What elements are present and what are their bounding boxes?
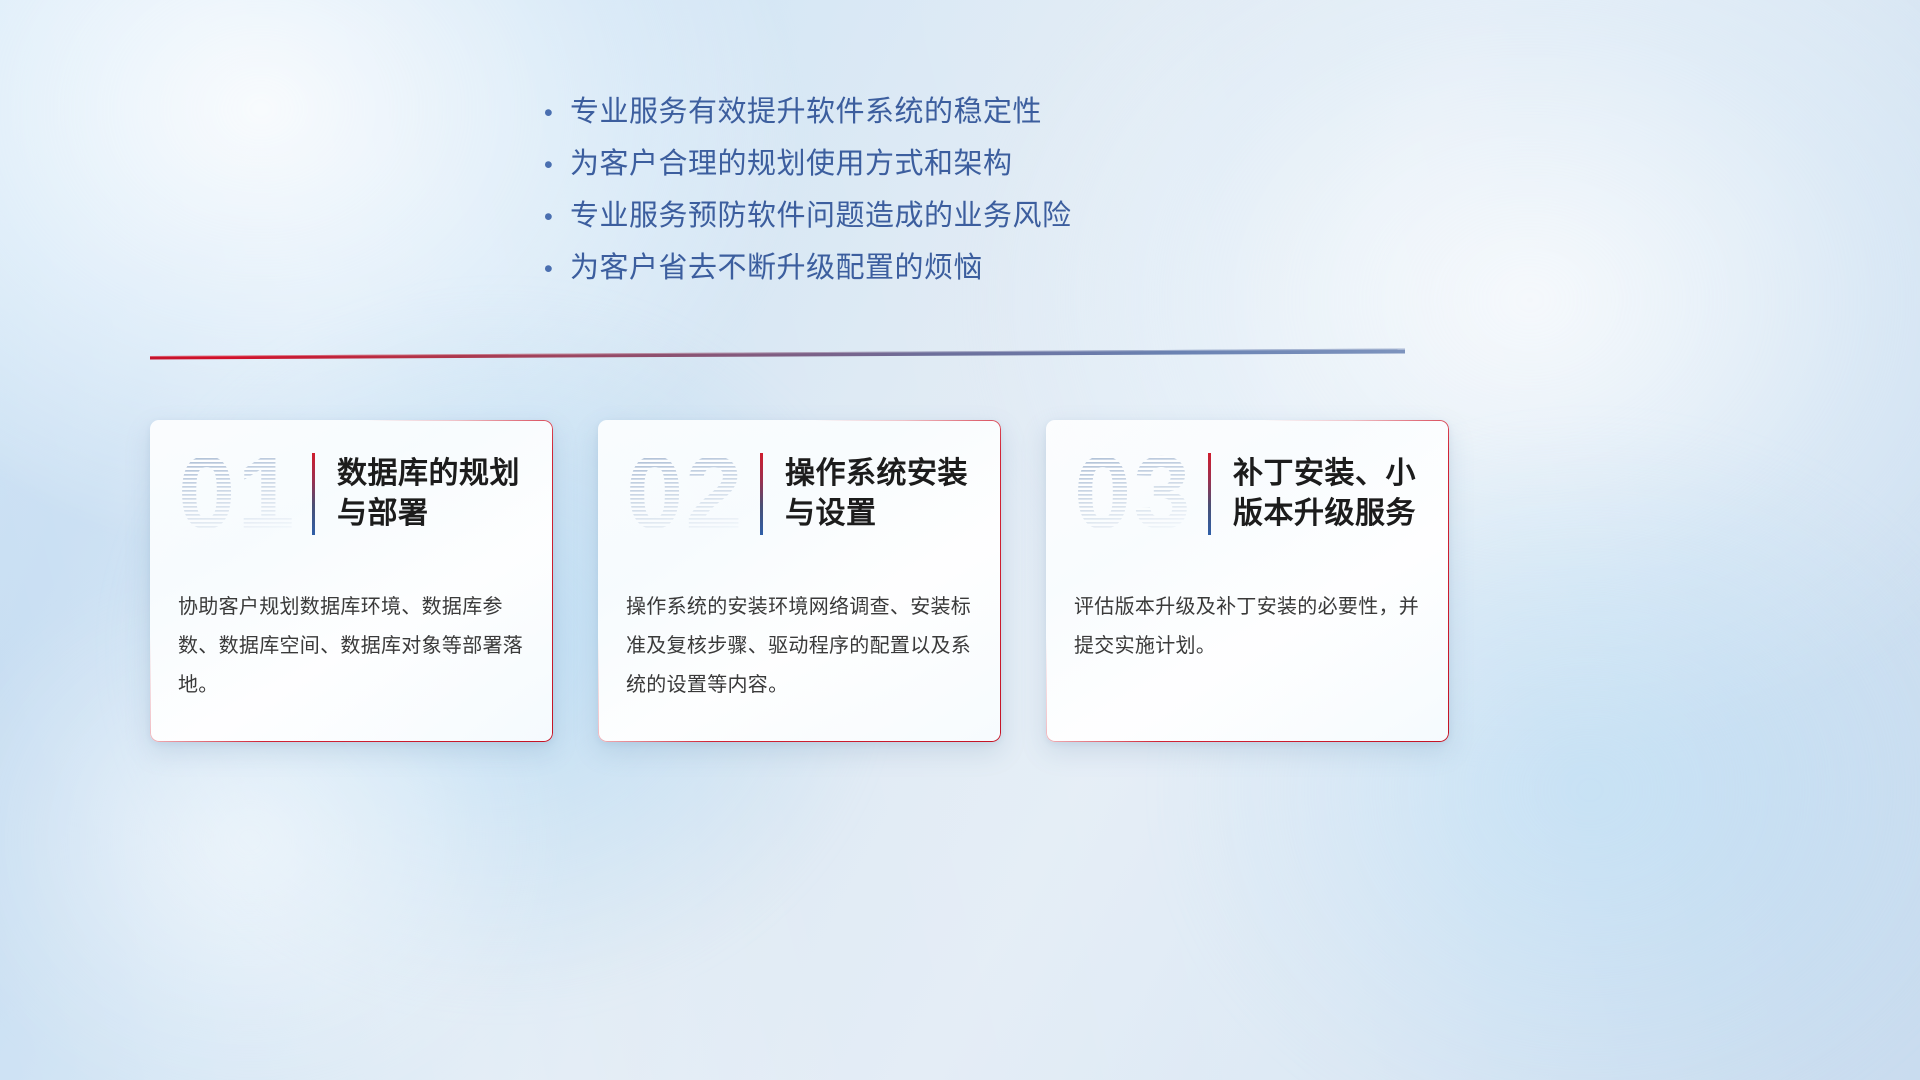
bullet-dot-icon: •: [540, 257, 570, 282]
feature-card[interactable]: 03 补丁安装、小 版本升级服务 评估版本升级及补丁安装的必要性，并提交实施计划…: [1046, 420, 1449, 742]
list-item: • 为客户省去不断升级配置的烦恼: [540, 244, 1440, 296]
card-body-text: 操作系统的安装环境网络调查、安装标准及复核步骤、驱动程序的配置以及系统的设置等内…: [626, 588, 975, 705]
list-item: • 为客户合理的规划使用方式和架构: [540, 140, 1440, 192]
card-body-text: 评估版本升级及补丁安装的必要性，并提交实施计划。: [1074, 588, 1423, 666]
bullet-dot-icon: •: [540, 205, 570, 230]
card-header: 01 数据库的规划 与部署: [150, 420, 553, 568]
bullet-text: 专业服务预防软件问题造成的业务风险: [570, 192, 1072, 234]
feature-card-group: 01 数据库的规划 与部署 协助客户规划数据库环境、数据库参数、数据库空间、数据…: [150, 420, 1450, 742]
bullet-list: • 专业服务有效提升软件系统的稳定性 • 为客户合理的规划使用方式和架构 • 专…: [540, 88, 1440, 296]
card-body-text: 协助客户规划数据库环境、数据库参数、数据库空间、数据库对象等部署落地。: [178, 588, 527, 705]
card-title-divider: [312, 453, 315, 535]
list-item: • 专业服务预防软件问题造成的业务风险: [540, 192, 1440, 244]
ghost-number-watermark: 03: [1074, 442, 1198, 546]
bullet-text: 为客户省去不断升级配置的烦恼: [570, 244, 983, 286]
card-title-divider: [760, 453, 763, 535]
bullet-text: 为客户合理的规划使用方式和架构: [570, 140, 1013, 182]
svg-text:01: 01: [178, 442, 297, 546]
svg-text:03: 03: [1074, 442, 1193, 546]
list-item: • 专业服务有效提升软件系统的稳定性: [540, 88, 1440, 140]
bullet-dot-icon: •: [540, 153, 570, 178]
bullet-text: 专业服务有效提升软件系统的稳定性: [570, 88, 1042, 130]
card-title-divider: [1208, 453, 1211, 535]
feature-card[interactable]: 01 数据库的规划 与部署 协助客户规划数据库环境、数据库参数、数据库空间、数据…: [150, 420, 553, 742]
card-header: 03 补丁安装、小 版本升级服务: [1046, 420, 1449, 568]
ghost-number-watermark: 02: [626, 442, 750, 546]
card-title: 数据库的规划 与部署: [337, 454, 520, 534]
gradient-divider: [150, 347, 1405, 363]
slide-canvas: • 专业服务有效提升软件系统的稳定性 • 为客户合理的规划使用方式和架构 • 专…: [0, 0, 1920, 1080]
bullet-dot-icon: •: [540, 101, 570, 126]
ghost-number-watermark: 01: [178, 442, 302, 546]
card-title: 操作系统安装 与设置: [785, 454, 968, 534]
card-header: 02 操作系统安装 与设置: [598, 420, 1001, 568]
feature-card[interactable]: 02 操作系统安装 与设置 操作系统的安装环境网络调查、安装标准及复核步骤、驱动…: [598, 420, 1001, 742]
card-title: 补丁安装、小 版本升级服务: [1233, 454, 1416, 534]
svg-text:02: 02: [626, 442, 745, 546]
